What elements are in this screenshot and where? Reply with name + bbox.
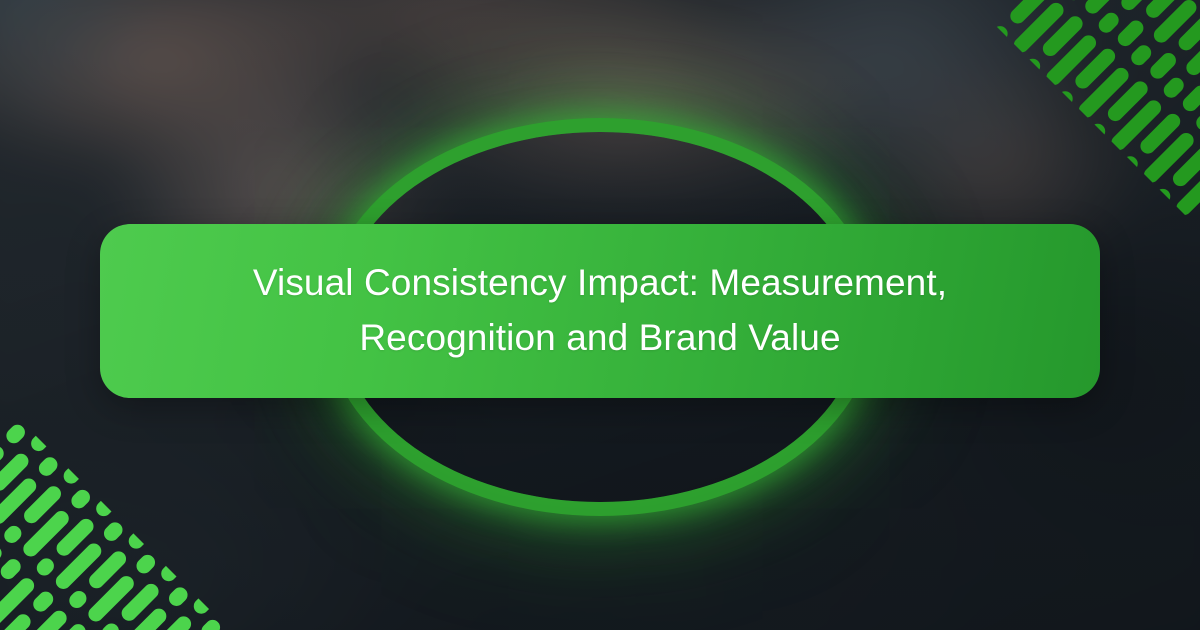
open-graph-card: Visual Consistency Impact: Measurement, … [0, 0, 1200, 630]
circuit-dash-shapes [0, 400, 230, 630]
circuit-dash-shapes [970, 0, 1200, 230]
title-banner: Visual Consistency Impact: Measurement, … [100, 224, 1100, 398]
corner-decoration-bottom-left [0, 400, 230, 630]
corner-decoration-top-right [970, 0, 1200, 230]
page-title: Visual Consistency Impact: Measurement, … [210, 256, 990, 366]
